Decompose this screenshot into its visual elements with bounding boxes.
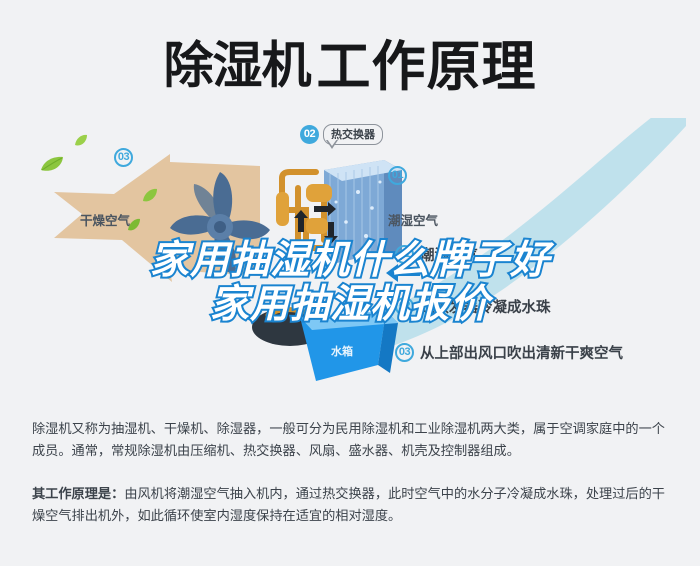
- paragraph-2-body: 由风机将潮湿空气抽入机内，通过热交换器，此时空气中的水分子冷凝成水珠，处理过后的…: [32, 486, 665, 523]
- paragraph-2: 其工作原理是：由风机将潮湿空气抽入机内，通过热交换器，此时空气中的水分子冷凝成水…: [32, 483, 672, 527]
- paragraph-2-lead: 其工作原理是：: [32, 486, 124, 501]
- callout-badge-02: 02: [300, 125, 319, 144]
- paragraph-1: 除湿机又称为抽湿机、干燥机、除湿器，一般可分为民用除湿机和工业除湿机两大类，属于…: [32, 418, 672, 462]
- page-title-light: 工作原理: [317, 37, 537, 97]
- step-item-01: 01 潮湿空气: [395, 244, 478, 265]
- body-copy: 除湿机又称为抽湿机、干燥机、除湿器，一般可分为民用除湿机和工业除湿机两大类，属于…: [32, 418, 672, 538]
- page-root: 除湿机工作原理: [0, 0, 700, 566]
- step-badge-03: 03: [395, 343, 414, 362]
- leaf-icon: [40, 156, 64, 174]
- dry-air-label: 干燥空气: [80, 210, 130, 229]
- step-badge-02: 02: [395, 297, 414, 316]
- step-text-02: 过蒸发器冷凝成水珠: [420, 296, 551, 317]
- step-item-03: 03 从上部出风口吹出清新干爽空气: [395, 342, 623, 363]
- callout-tail-icon: [326, 140, 338, 149]
- page-title: 除湿机工作原理: [0, 22, 700, 101]
- step-text-01: 潮湿空气: [420, 244, 478, 265]
- water-tank-icon: 水箱: [250, 303, 410, 390]
- step-text-03: 从上部出风口吹出清新干爽空气: [420, 342, 623, 363]
- diagram-badge-03: 03: [114, 148, 133, 167]
- step-item-02: 02 过蒸发器冷凝成水珠: [395, 296, 551, 317]
- leaf-icon: [142, 188, 158, 203]
- diagram-badge-01: 01: [388, 166, 407, 185]
- humid-air-label: 潮湿空气: [388, 210, 438, 229]
- step-badge-01: 01: [395, 245, 414, 264]
- heat-exchanger-callout: 02热交换器: [300, 124, 383, 145]
- tank-label-text: 水箱: [331, 344, 353, 358]
- leaf-icon: [74, 134, 88, 147]
- page-title-strong: 除湿机: [164, 38, 311, 94]
